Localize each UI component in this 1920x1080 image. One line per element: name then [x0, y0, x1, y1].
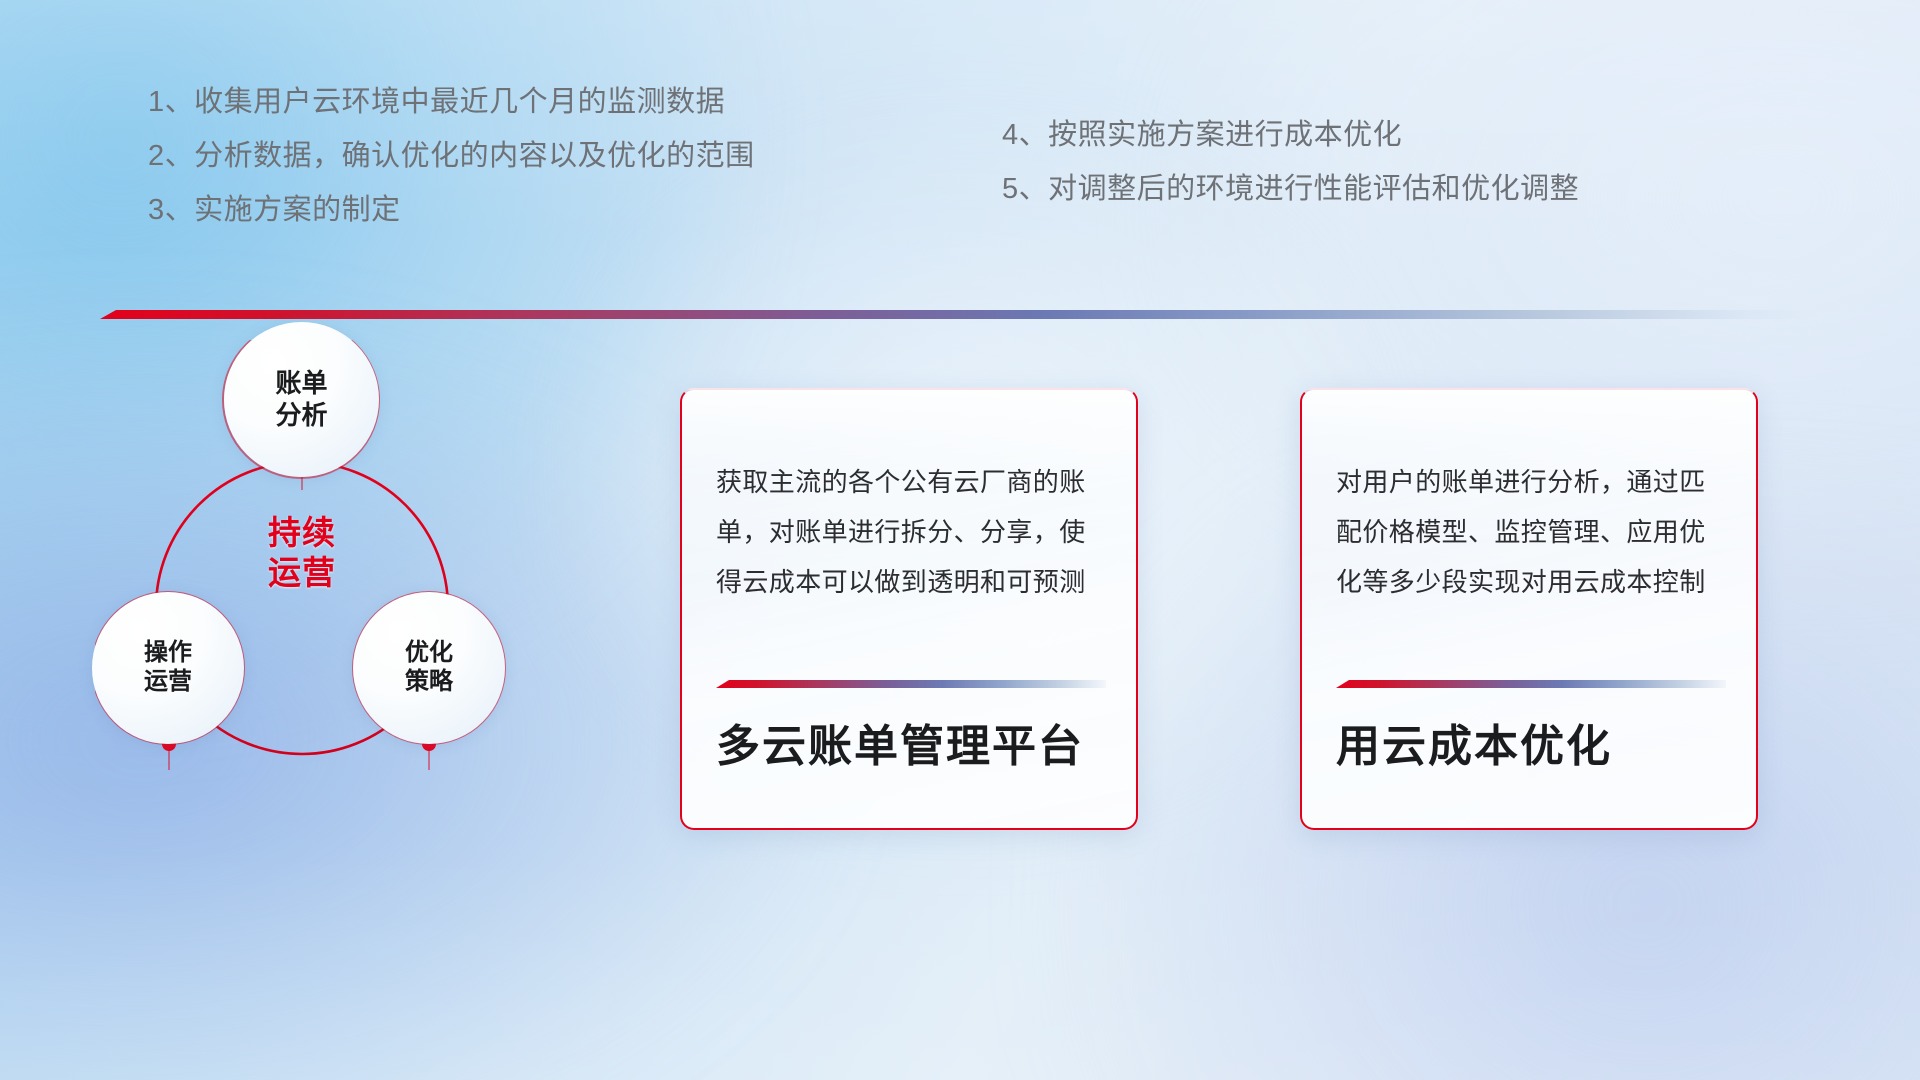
card-multi-cloud-bill-platform[interactable]: 获取主流的各个公有云厂商的账单，对账单进行拆分、分享，使得云成本可以做到透明和可… [680, 388, 1138, 830]
venn-center-label-line2: 运营 [268, 553, 336, 593]
venn-bubble-optimization-strategy-line2: 策略 [405, 668, 453, 697]
card-one-rule [716, 680, 1106, 688]
process-steps: 1、收集用户云环境中最近几个月的监测数据 2、分析数据，确认优化的内容以及优化的… [0, 88, 1920, 268]
process-step-5: 5、对调整后的环境进行性能评估和优化调整 [1002, 175, 1579, 204]
process-step-1: 1、收集用户云环境中最近几个月的监测数据 [148, 88, 755, 117]
card-one-description: 获取主流的各个公有云厂商的账单，对账单进行拆分、分享，使得云成本可以做到透明和可… [716, 458, 1106, 608]
venn-bubble-operations-line2: 运营 [144, 668, 192, 697]
process-steps-right-column: 4、按照实施方案进行成本优化 5、对调整后的环境进行性能评估和优化调整 [1002, 121, 1579, 229]
continuous-operation-diagram: 账单 分析 操作 运营 优化 策略 持续 运营 [95, 340, 655, 960]
venn-bubble-operations[interactable]: 操作 运营 [92, 592, 244, 744]
venn-bubble-operations-line1: 操作 [144, 639, 192, 668]
venn-bubble-optimization-strategy-line1: 优化 [405, 639, 453, 668]
card-one-title: 多云账单管理平台 [716, 710, 1084, 774]
venn-bubble-bill-analysis-line1: 账单 [275, 368, 327, 399]
process-step-4: 4、按照实施方案进行成本优化 [1002, 121, 1579, 150]
venn-bubble-bill-analysis[interactable]: 账单 分析 [224, 322, 379, 477]
process-step-2: 2、分析数据，确认优化的内容以及优化的范围 [148, 142, 755, 171]
card-two-rule [1336, 680, 1726, 688]
venn-bubble-bill-analysis-line2: 分析 [275, 400, 327, 431]
process-steps-left-column: 1、收集用户云环境中最近几个月的监测数据 2、分析数据，确认优化的内容以及优化的… [148, 88, 755, 250]
card-two-description: 对用户的账单进行分析，通过匹配价格模型、监控管理、应用优化等多少段实现对用云成本… [1336, 458, 1726, 608]
venn-center-label-line1: 持续 [268, 513, 336, 553]
card-two-title: 用云成本优化 [1336, 710, 1612, 774]
section-divider [100, 310, 1818, 319]
process-step-3: 3、实施方案的制定 [148, 196, 755, 225]
card-cloud-cost-optimization[interactable]: 对用户的账单进行分析，通过匹配价格模型、监控管理、应用优化等多少段实现对用云成本… [1300, 388, 1758, 830]
venn-center-label: 持续 运营 [223, 488, 381, 618]
